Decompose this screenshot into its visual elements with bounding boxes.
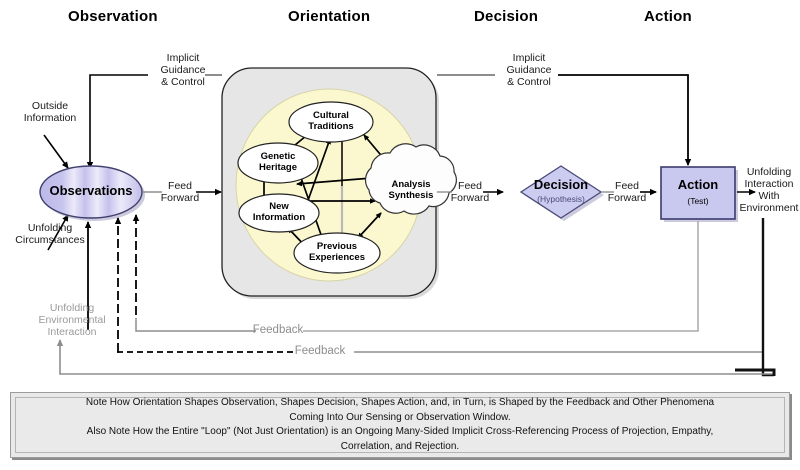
note-text: Note How Orientation Shapes Observation,… — [78, 396, 722, 454]
action-node-sublabel: (Test) — [661, 196, 735, 207]
previous-experiences-label: Previous Experiences — [294, 242, 380, 263]
note-box-inner: Note How Orientation Shapes Observation,… — [15, 397, 785, 453]
unfolding-interaction-label: Unfolding Interaction With Environment — [738, 166, 800, 214]
decision-node-sublabel: (Hypothesis) — [521, 194, 601, 205]
implicit-guidance-left-label: Implicit Guidance & Control — [148, 52, 218, 88]
decision-node-label: Decision — [521, 178, 601, 192]
unfolding-circumstances-label: Unfolding Circumstances — [2, 222, 98, 246]
unfolding-environmental-interaction-label: Unfolding Environmental Interaction — [22, 302, 122, 338]
outside-information-label: Outside Information — [8, 100, 92, 124]
feed-forward-1-label: Feed Forward — [158, 180, 202, 204]
genetic-heritage-label: Genetic Heritage — [238, 152, 318, 173]
cultural-traditions-label: Cultural Traditions — [289, 111, 373, 132]
feedback-upper-label: Feedback — [252, 324, 304, 337]
feed-forward-3-label: Feed Forward — [605, 180, 649, 204]
note-box: Note How Orientation Shapes Observation,… — [10, 392, 790, 458]
header-observation: Observation — [68, 8, 158, 25]
feed-forward-2-label: Feed Forward — [448, 180, 492, 204]
implicit-guidance-right-connector — [437, 75, 688, 165]
action-node-label: Action — [661, 178, 735, 192]
analysis-synthesis-label: Analysis Synthesis — [375, 180, 447, 201]
header-orientation: Orientation — [288, 8, 370, 25]
feedback-lower-label: Feedback — [290, 345, 350, 358]
implicit-guidance-right-label: Implicit Guidance & Control — [494, 52, 564, 88]
observations-node-label: Observations — [41, 184, 141, 198]
header-action: Action — [644, 8, 692, 25]
action-node[interactable] — [661, 167, 738, 222]
header-decision: Decision — [474, 8, 538, 25]
outside-information-arrow — [44, 135, 68, 168]
ooda-loop-diagram: Observation Orientation Decision Action … — [0, 0, 800, 470]
new-information-label: New Information — [239, 202, 319, 223]
implicit-guidance-left-connector — [90, 75, 222, 168]
feedback-lower-connector — [118, 218, 763, 356]
